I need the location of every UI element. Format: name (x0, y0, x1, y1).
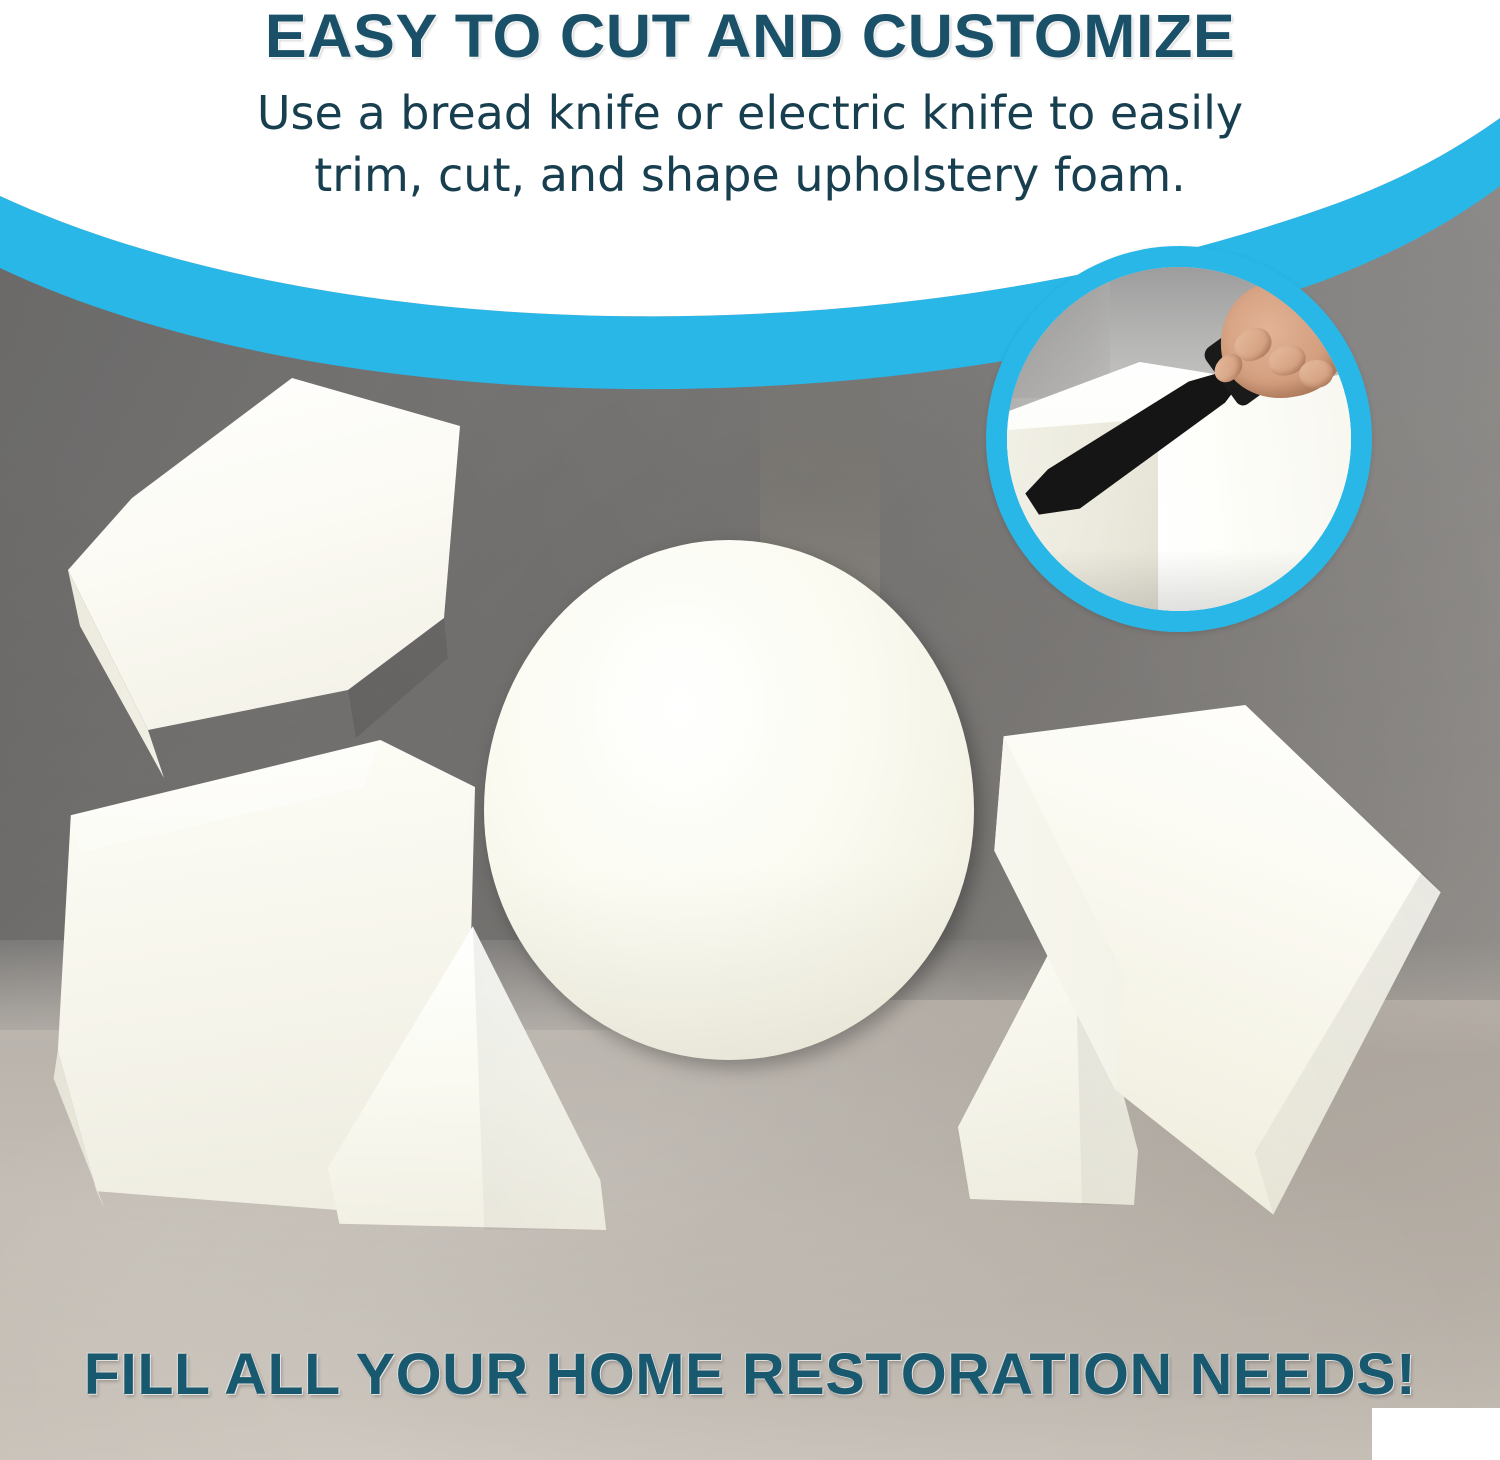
knife-cutting-foam-inset (986, 246, 1372, 632)
photo-scene (0, 0, 1500, 1460)
subtitle-line-1: Use a bread knife or electric knife to e… (0, 70, 1500, 144)
header-text-block: EASY TO CUT AND CUSTOMIZE Use a bread kn… (0, 0, 1500, 205)
footer-text-block: FILL ALL YOUR HOME RESTORATION NEEDS! (0, 1341, 1500, 1408)
foam-wedge-upper-left (60, 378, 460, 778)
inset-photo (1007, 267, 1351, 611)
bottom-right-white-patch (1372, 1408, 1500, 1460)
product-infographic: EASY TO CUT AND CUSTOMIZE Use a bread kn… (0, 0, 1500, 1460)
foam-wedge-right-large (985, 705, 1450, 1225)
foam-triangle-center (322, 920, 612, 1230)
subtitle-line-2: trim, cut, and shape upholstery foam. (0, 144, 1500, 206)
footer-headline: FILL ALL YOUR HOME RESTORATION NEEDS! (0, 1341, 1500, 1408)
page-title: EASY TO CUT AND CUSTOMIZE (0, 0, 1500, 70)
inset-bottom-shadow (1007, 549, 1351, 611)
